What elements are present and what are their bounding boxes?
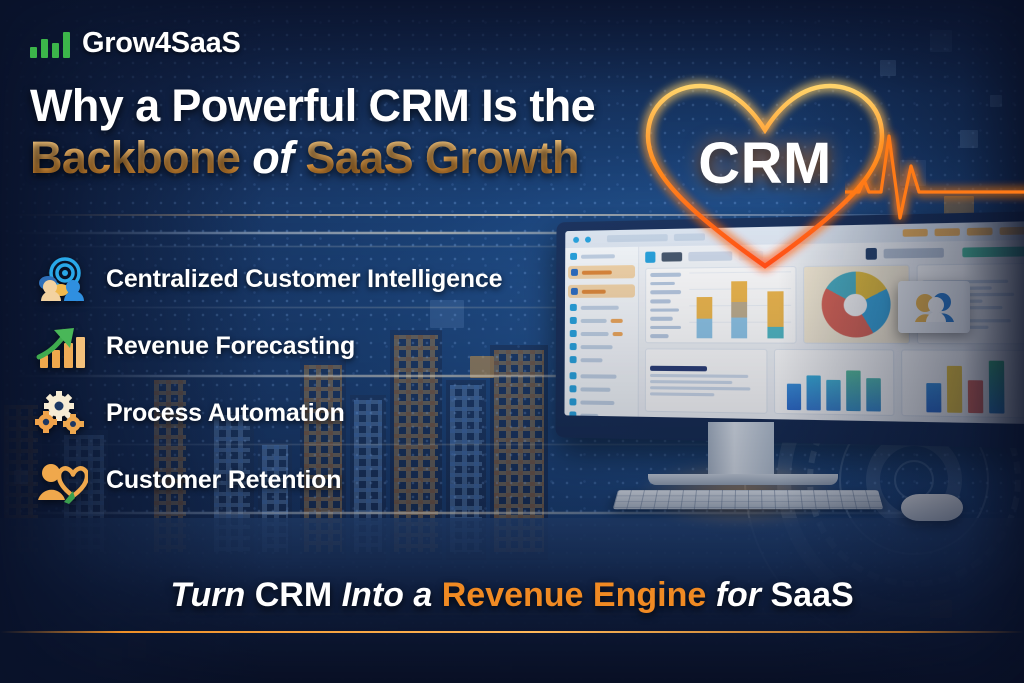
- headline: Why a Powerful CRM Is the Backbone of Sa…: [30, 82, 670, 182]
- feature-list: Centralized Customer Intelligence Revenu…: [34, 246, 534, 514]
- list-item-label: Centralized Customer Intelligence: [106, 265, 502, 294]
- tagline-part-2: CRM: [255, 576, 332, 614]
- gears-icon: [34, 391, 88, 437]
- list-item[interactable]: Process Automation: [34, 380, 534, 447]
- list-item[interactable]: Centralized Customer Intelligence: [34, 246, 534, 313]
- tagline-part-6: SaaS: [770, 576, 853, 614]
- tagline-part-3: Into a: [342, 576, 433, 614]
- tagline-part-5: for: [716, 576, 761, 614]
- footer-tagline: Turn CRM Into a Revenue Engine for SaaS: [0, 570, 1024, 620]
- customer-data-icon: [34, 257, 88, 303]
- brand-logo[interactable]: Grow4SaaS: [30, 28, 241, 58]
- brand-name: Grow4SaaS: [82, 29, 241, 58]
- person-heart-icon: [34, 458, 88, 504]
- headline-line-2: Backbone of SaaS Growth: [30, 134, 670, 181]
- tagline-part-1: Turn: [170, 576, 245, 614]
- growth-chart-icon: [34, 324, 88, 370]
- list-item[interactable]: Revenue Forecasting: [34, 313, 534, 380]
- list-item-label: Revenue Forecasting: [106, 332, 355, 361]
- list-item-label: Process Automation: [106, 399, 345, 428]
- ecg-line-icon: [845, 118, 1024, 228]
- footer-accent-rule: [0, 631, 1024, 633]
- headline-line-1: Why a Powerful CRM Is the: [30, 82, 670, 129]
- list-item[interactable]: Customer Retention: [34, 447, 534, 514]
- list-item-label: Customer Retention: [106, 466, 341, 495]
- tagline-part-4: Revenue Engine: [442, 576, 707, 614]
- bar-chart-icon: [30, 28, 70, 58]
- promotional-banner:  Grow4SaaS: [0, 0, 1024, 683]
